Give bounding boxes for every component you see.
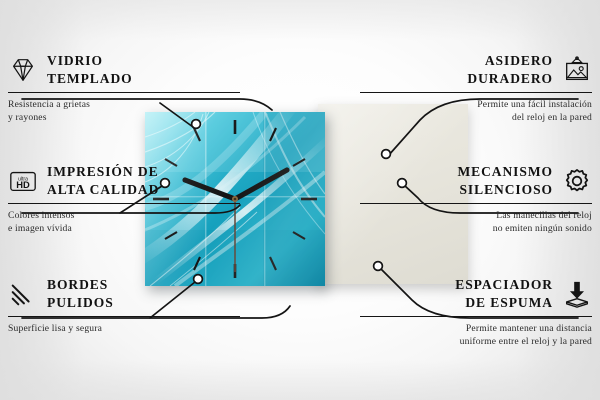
feature-mecanismo-silencioso: MECANISMO SILENCIOSO Las manecillas del … [360,163,592,236]
feature-head: VIDRIO TEMPLADO [8,52,240,88]
feature-title: IMPRESIÓN DE ALTA CALIDAD [47,163,159,199]
feature-impresion-alta-calidad: ultra HD IMPRESIÓN DE ALTA CALIDAD Color… [8,163,240,236]
feature-divider [8,92,240,93]
feature-title: MECANISMO SILENCIOSO [457,163,553,199]
ultra-hd-icon: ultra HD [8,166,38,196]
gear-icon [562,166,592,196]
feature-divider [360,203,592,204]
feature-divider [360,92,592,93]
feature-divider [360,316,592,317]
feature-head: ASIDERO DURADERO [360,52,592,88]
feature-divider [8,316,240,317]
feature-asidero-duradero: ASIDERO DURADERO Permite una fácil insta… [360,52,592,125]
feature-head: ultra HD IMPRESIÓN DE ALTA CALIDAD [8,163,240,199]
feature-description: Superficie lisa y segura [8,322,240,336]
polished-edges-icon [8,279,38,309]
feature-description: Las manecillas del reloj no emiten ningú… [360,209,592,236]
feature-description: Resistencia a grietas y rayones [8,98,240,125]
diamond-icon [8,55,38,85]
infographic-canvas: VIDRIO TEMPLADO Resistencia a grietas y … [0,0,600,400]
foam-spacer-icon [562,279,592,309]
hanging-frame-icon [562,55,592,85]
feature-bordes-pulidos: BORDES PULIDOS Superficie lisa y segura [8,276,240,335]
feature-description: Permite una fácil instalación del reloj … [360,98,592,125]
feature-head: ESPACIADOR DE ESPUMA [360,276,592,312]
feature-head: BORDES PULIDOS [8,276,240,312]
feature-head: MECANISMO SILENCIOSO [360,163,592,199]
feature-description: Permite mantener una distancia uniforme … [360,322,592,349]
feature-vidrio-templado: VIDRIO TEMPLADO Resistencia a grietas y … [8,52,240,125]
feature-espaciador-de-espuma: ESPACIADOR DE ESPUMA Permite mantener un… [360,276,592,349]
feature-title: ASIDERO DURADERO [467,52,553,88]
svg-text:HD: HD [16,180,30,190]
feature-title: BORDES PULIDOS [47,276,114,312]
feature-divider [8,203,240,204]
feature-description: Colores intensos e imagen vívida [8,209,240,236]
feature-title: ESPACIADOR DE ESPUMA [455,276,553,312]
feature-title: VIDRIO TEMPLADO [47,52,133,88]
